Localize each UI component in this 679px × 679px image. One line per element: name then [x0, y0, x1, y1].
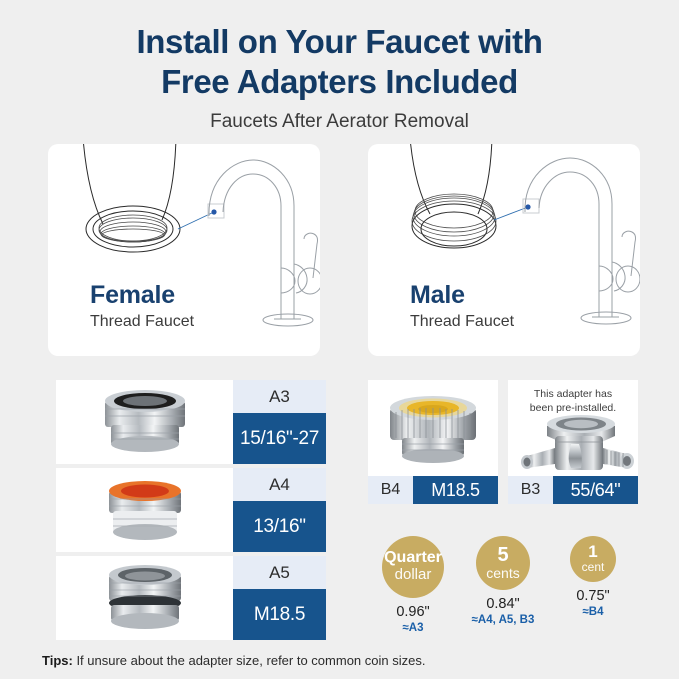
adapter-code-label: B3	[508, 476, 553, 504]
tips-text: If unsure about the adapter size, refer …	[73, 653, 426, 668]
adapter-image-b3: This adapter has been pre-installed.	[508, 380, 638, 476]
adapter-row: A3 15/16"-27	[56, 380, 326, 464]
adapter-b3-valve-icon	[511, 414, 635, 476]
coin-reference-group: Quarter dollar 0.96" ≈A3 5 cents 0.84" ≈…	[368, 536, 638, 636]
coin-circle: 1 cent	[570, 536, 616, 582]
adapter-size-label: M18.5	[233, 589, 326, 640]
adapter-codes-a5: A5 M18.5	[233, 556, 326, 640]
coin-item-quarter: Quarter dollar 0.96" ≈A3	[371, 536, 455, 636]
coin-diameter-label: 0.84"	[461, 596, 545, 613]
adapter-code-label: A5	[233, 556, 326, 589]
adapter-image-b4	[368, 380, 498, 476]
adapter-size-label: 15/16"-27	[233, 413, 326, 464]
adapter-code-label: A4	[233, 468, 326, 501]
adapter-codes-a4: A4 13/16"	[233, 468, 326, 552]
adapter-image-a5	[56, 556, 233, 640]
adapter-bar-b4: B4 M18.5	[368, 476, 498, 504]
adapter-item-b4: B4 M18.5	[368, 380, 498, 504]
adapter-preinstalled-note: This adapter has been pre-installed.	[508, 387, 638, 415]
adapter-a3-icon	[91, 387, 199, 457]
faucet-card-female: Female Thread Faucet	[48, 144, 320, 356]
coin-top-label: 5	[497, 545, 508, 566]
note-line-1: This adapter has	[508, 387, 638, 401]
adapter-size-label: 13/16"	[233, 501, 326, 552]
adapter-image-a3	[56, 380, 233, 464]
page-subtitle: Faucets After Aerator Removal	[0, 110, 679, 134]
adapter-a4-icon	[91, 475, 199, 545]
adapter-row: A5 M18.5	[56, 556, 326, 640]
coin-approx-label: ≈B4	[551, 605, 635, 620]
female-faucet-title: Female	[90, 281, 194, 309]
coin-bottom-label: dollar	[395, 567, 432, 584]
coin-approx-label: ≈A3	[371, 621, 455, 636]
female-faucet-label: Female Thread Faucet	[90, 281, 194, 332]
male-faucet-label: Male Thread Faucet	[410, 281, 514, 332]
coin-circle: Quarter dollar	[382, 536, 444, 598]
coin-diameter-label: 0.96"	[371, 604, 455, 621]
male-faucet-subtitle: Thread Faucet	[410, 311, 514, 332]
coin-bottom-label: cent	[582, 561, 605, 574]
coin-top-label: Quarter	[384, 550, 442, 567]
page-header: Install on Your Faucet with Free Adapter…	[0, 22, 679, 134]
male-faucet-title: Male	[410, 281, 514, 309]
female-faucet-subtitle: Thread Faucet	[90, 311, 194, 332]
adapter-size-label: 55/64"	[553, 476, 638, 504]
adapter-codes-a3: A3 15/16"-27	[233, 380, 326, 464]
adapter-pair-right: B4 M18.5 This adapter has been pre-insta…	[368, 380, 638, 504]
adapter-table-left: A3 15/16"-27 A4 13/16"	[56, 380, 326, 644]
tips-label: Tips:	[42, 653, 73, 668]
coin-item-nickel: 5 cents 0.84" ≈A4, A5, B3	[461, 536, 545, 628]
adapter-b4-icon	[378, 386, 488, 474]
adapter-size-label: M18.5	[413, 476, 498, 504]
adapter-image-a4	[56, 468, 233, 552]
faucet-card-male: Male Thread Faucet	[368, 144, 640, 356]
coin-bottom-label: cents	[486, 566, 519, 582]
page-title-line-2: Free Adapters Included	[0, 62, 679, 102]
adapter-row: A4 13/16"	[56, 468, 326, 552]
tips-footnote: Tips: If unsure about the adapter size, …	[42, 653, 425, 668]
coin-approx-label: ≈A4, A5, B3	[461, 613, 545, 628]
coin-circle: 5 cents	[476, 536, 530, 590]
adapter-item-b3: This adapter has been pre-installed.	[508, 380, 638, 504]
adapter-bar-b3: B3 55/64"	[508, 476, 638, 504]
note-line-2: been pre-installed.	[508, 401, 638, 415]
infographic-page: Install on Your Faucet with Free Adapter…	[0, 0, 679, 679]
page-title-line-1: Install on Your Faucet with	[0, 22, 679, 62]
coin-top-label: 1	[588, 543, 597, 561]
adapter-a5-icon	[91, 563, 199, 633]
adapter-code-label: B4	[368, 476, 413, 504]
adapter-code-label: A3	[233, 380, 326, 413]
coin-diameter-label: 0.75"	[551, 588, 635, 605]
coin-item-penny: 1 cent 0.75" ≈B4	[551, 536, 635, 620]
